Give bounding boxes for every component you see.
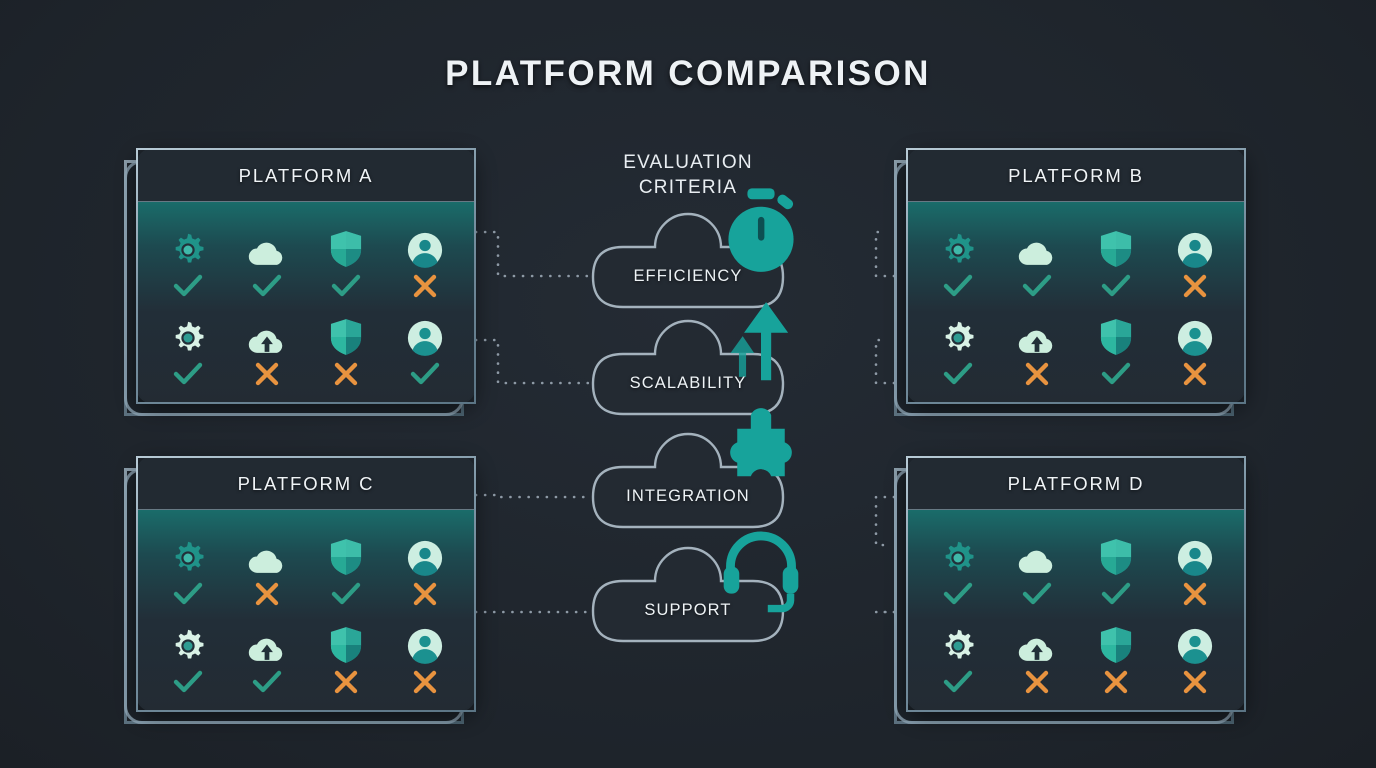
check-icon — [390, 361, 460, 387]
check-icon — [153, 273, 223, 299]
card-title: PLATFORM A — [239, 165, 374, 187]
check-icon — [232, 669, 302, 695]
result-mark-row — [918, 356, 1234, 392]
card-title: PLATFORM D — [1008, 473, 1145, 495]
result-mark-row — [918, 664, 1234, 700]
cross-icon — [1002, 669, 1072, 695]
card-body — [908, 202, 1244, 403]
check-icon — [923, 669, 993, 695]
card-title: PLATFORM B — [1008, 165, 1144, 187]
card-header: PLATFORM A — [138, 150, 474, 202]
result-mark-row — [148, 356, 464, 392]
cross-icon — [311, 669, 381, 695]
cloud-icon — [1002, 546, 1072, 576]
check-icon — [153, 581, 223, 607]
cloud-icon — [232, 546, 302, 576]
user-icon — [390, 232, 460, 268]
card-body — [908, 510, 1244, 711]
check-icon — [1002, 273, 1072, 299]
cross-icon — [1160, 581, 1230, 607]
cross-icon — [390, 273, 460, 299]
result-mark-row — [148, 268, 464, 304]
card-header: PLATFORM C — [138, 458, 474, 510]
cloud-icon — [1002, 238, 1072, 268]
diagram-canvas: PLATFORM COMPARISON PLATFORM A — [0, 0, 1376, 768]
feature-icon-row — [148, 216, 464, 268]
cloud-upload-icon — [232, 326, 302, 356]
check-icon — [923, 361, 993, 387]
cross-icon — [232, 581, 302, 607]
check-icon — [153, 669, 223, 695]
check-icon — [311, 273, 381, 299]
gear-icon — [153, 540, 223, 576]
card-body — [138, 510, 474, 711]
cross-icon — [232, 361, 302, 387]
feature-icon-row — [148, 304, 464, 356]
criterion-badge-support[interactable]: SUPPORT — [593, 579, 783, 641]
cloud-upload-icon — [1002, 634, 1072, 664]
user-icon — [1160, 540, 1230, 576]
result-mark-row — [918, 576, 1234, 612]
feature-icon-row — [918, 216, 1234, 268]
cross-icon — [1160, 273, 1230, 299]
cross-icon — [390, 669, 460, 695]
cloud-upload-icon — [232, 634, 302, 664]
result-mark-row — [148, 664, 464, 700]
feature-icon-row — [148, 524, 464, 576]
gear-alt-icon — [923, 628, 993, 664]
feature-icon-row — [918, 304, 1234, 356]
check-icon — [153, 361, 223, 387]
feature-icon-row — [918, 524, 1234, 576]
shield-icon — [311, 230, 381, 268]
user-alt-icon — [1160, 320, 1230, 356]
card-body — [138, 202, 474, 403]
gear-alt-icon — [923, 320, 993, 356]
check-icon — [923, 273, 993, 299]
cross-icon — [1160, 361, 1230, 387]
cross-icon — [311, 361, 381, 387]
card-header: PLATFORM D — [908, 458, 1244, 510]
page-title: PLATFORM COMPARISON — [0, 54, 1376, 94]
shield-alt-icon — [1081, 318, 1151, 356]
criteria-heading-line1: EVALUATION — [563, 150, 813, 175]
gear-icon — [153, 232, 223, 268]
cross-icon — [1081, 669, 1151, 695]
cross-icon — [1002, 361, 1072, 387]
gear-alt-icon — [153, 320, 223, 356]
user-icon — [390, 540, 460, 576]
cloud-upload-icon — [1002, 326, 1072, 356]
user-alt-icon — [390, 320, 460, 356]
check-icon — [311, 581, 381, 607]
check-icon — [1002, 581, 1072, 607]
platform-card-a[interactable]: PLATFORM A — [124, 148, 476, 416]
shield-alt-icon — [311, 626, 381, 664]
platform-card-c[interactable]: PLATFORM C — [124, 456, 476, 724]
gear-alt-icon — [153, 628, 223, 664]
platform-card-b[interactable]: PLATFORM B — [894, 148, 1246, 416]
check-icon — [923, 581, 993, 607]
cloud-icon — [232, 238, 302, 268]
feature-icon-row — [918, 612, 1234, 664]
shield-icon — [1081, 538, 1151, 576]
user-alt-icon — [1160, 628, 1230, 664]
check-icon — [1081, 581, 1151, 607]
result-mark-row — [148, 576, 464, 612]
feature-icon-row — [148, 612, 464, 664]
shield-alt-icon — [1081, 626, 1151, 664]
criterion-badge-integration[interactable]: INTEGRATION — [593, 465, 783, 527]
user-alt-icon — [390, 628, 460, 664]
badge-label: SUPPORT — [593, 579, 783, 641]
check-icon — [1081, 273, 1151, 299]
gear-icon — [923, 232, 993, 268]
platform-card-d[interactable]: PLATFORM D — [894, 456, 1246, 724]
check-icon — [232, 273, 302, 299]
check-icon — [1081, 361, 1151, 387]
gear-icon — [923, 540, 993, 576]
cross-icon — [390, 581, 460, 607]
user-icon — [1160, 232, 1230, 268]
shield-icon — [311, 538, 381, 576]
cross-icon — [1160, 669, 1230, 695]
shield-icon — [1081, 230, 1151, 268]
result-mark-row — [918, 268, 1234, 304]
badge-label: INTEGRATION — [593, 465, 783, 527]
card-title: PLATFORM C — [238, 473, 375, 495]
shield-alt-icon — [311, 318, 381, 356]
card-header: PLATFORM B — [908, 150, 1244, 202]
